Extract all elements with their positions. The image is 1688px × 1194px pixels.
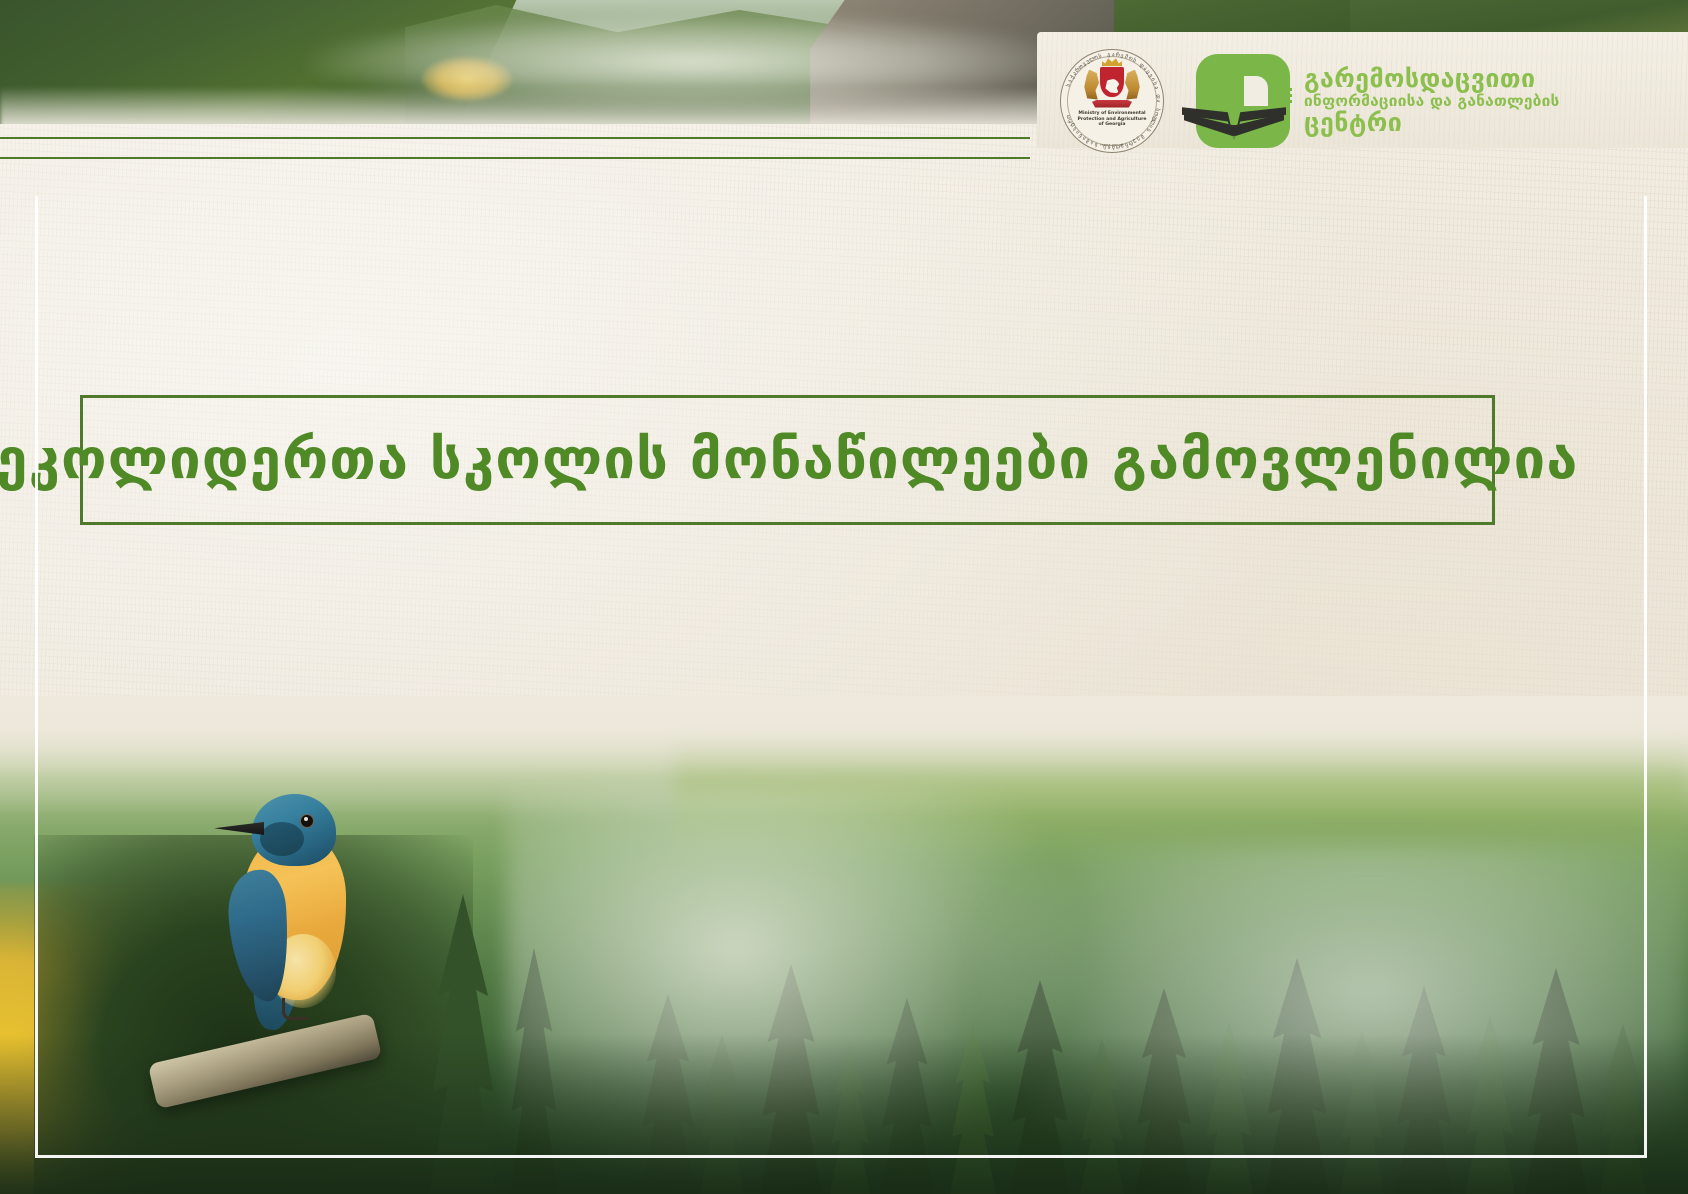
eice-line-1: გარემოსდაცვითი bbox=[1304, 66, 1560, 92]
bird-beak bbox=[214, 822, 264, 835]
page-title: ეკოლიდერთა სკოლის მონაწილეები გამოვლენილ… bbox=[0, 431, 1579, 490]
seal-lion-right-icon bbox=[1125, 70, 1141, 100]
poster-canvas: საქართველოს გარემოს დაცვისა და სოფლის მე… bbox=[0, 0, 1688, 1194]
header-rule-bottom bbox=[0, 157, 1030, 159]
seal-url-text: mepa.gov.ge bbox=[1060, 143, 1164, 147]
ministry-seal-logo[interactable]: საქართველოს გარემოს დაცვისა და სოფლის მე… bbox=[1060, 49, 1164, 153]
georgia-coat-of-arms-icon bbox=[1083, 64, 1141, 114]
seal-ribbon-icon bbox=[1092, 100, 1132, 108]
eice-logo-wordmark: გარემოსდაცვითი ინფორმაციისა და განათლები… bbox=[1304, 66, 1560, 136]
bird-illustration bbox=[208, 784, 378, 1034]
title-box: ეკოლიდერთა სკოლის მონაწილეები გამოვლენილ… bbox=[80, 395, 1495, 525]
eice-book-mark-icon bbox=[1196, 54, 1290, 148]
eice-logo[interactable]: გარემოსდაცვითი ინფორმაციისა და განათლები… bbox=[1196, 54, 1560, 148]
header-rule-top bbox=[0, 137, 1030, 139]
seal-shield-icon bbox=[1099, 66, 1125, 98]
seal-english-line-3: of Georgia bbox=[1060, 122, 1164, 128]
seal-lion-left-icon bbox=[1083, 70, 1099, 100]
bird-eye bbox=[300, 814, 314, 828]
bottom-banner-photo bbox=[0, 696, 1688, 1194]
seal-saint-george-rider-icon bbox=[1105, 79, 1120, 94]
bird-foot bbox=[282, 998, 308, 1020]
eice-bars-icon bbox=[1276, 88, 1292, 104]
seal-english-text: Ministry of Environmental Protection and… bbox=[1060, 111, 1164, 128]
eice-line-2: ინფორმაციისა და განათლების bbox=[1304, 93, 1560, 109]
header-logo-group: საქართველოს გარემოს დაცვისა და სოფლის მე… bbox=[1060, 42, 1660, 160]
bird-cheek bbox=[260, 822, 304, 856]
eice-line-3: ცენტრი bbox=[1304, 110, 1560, 136]
